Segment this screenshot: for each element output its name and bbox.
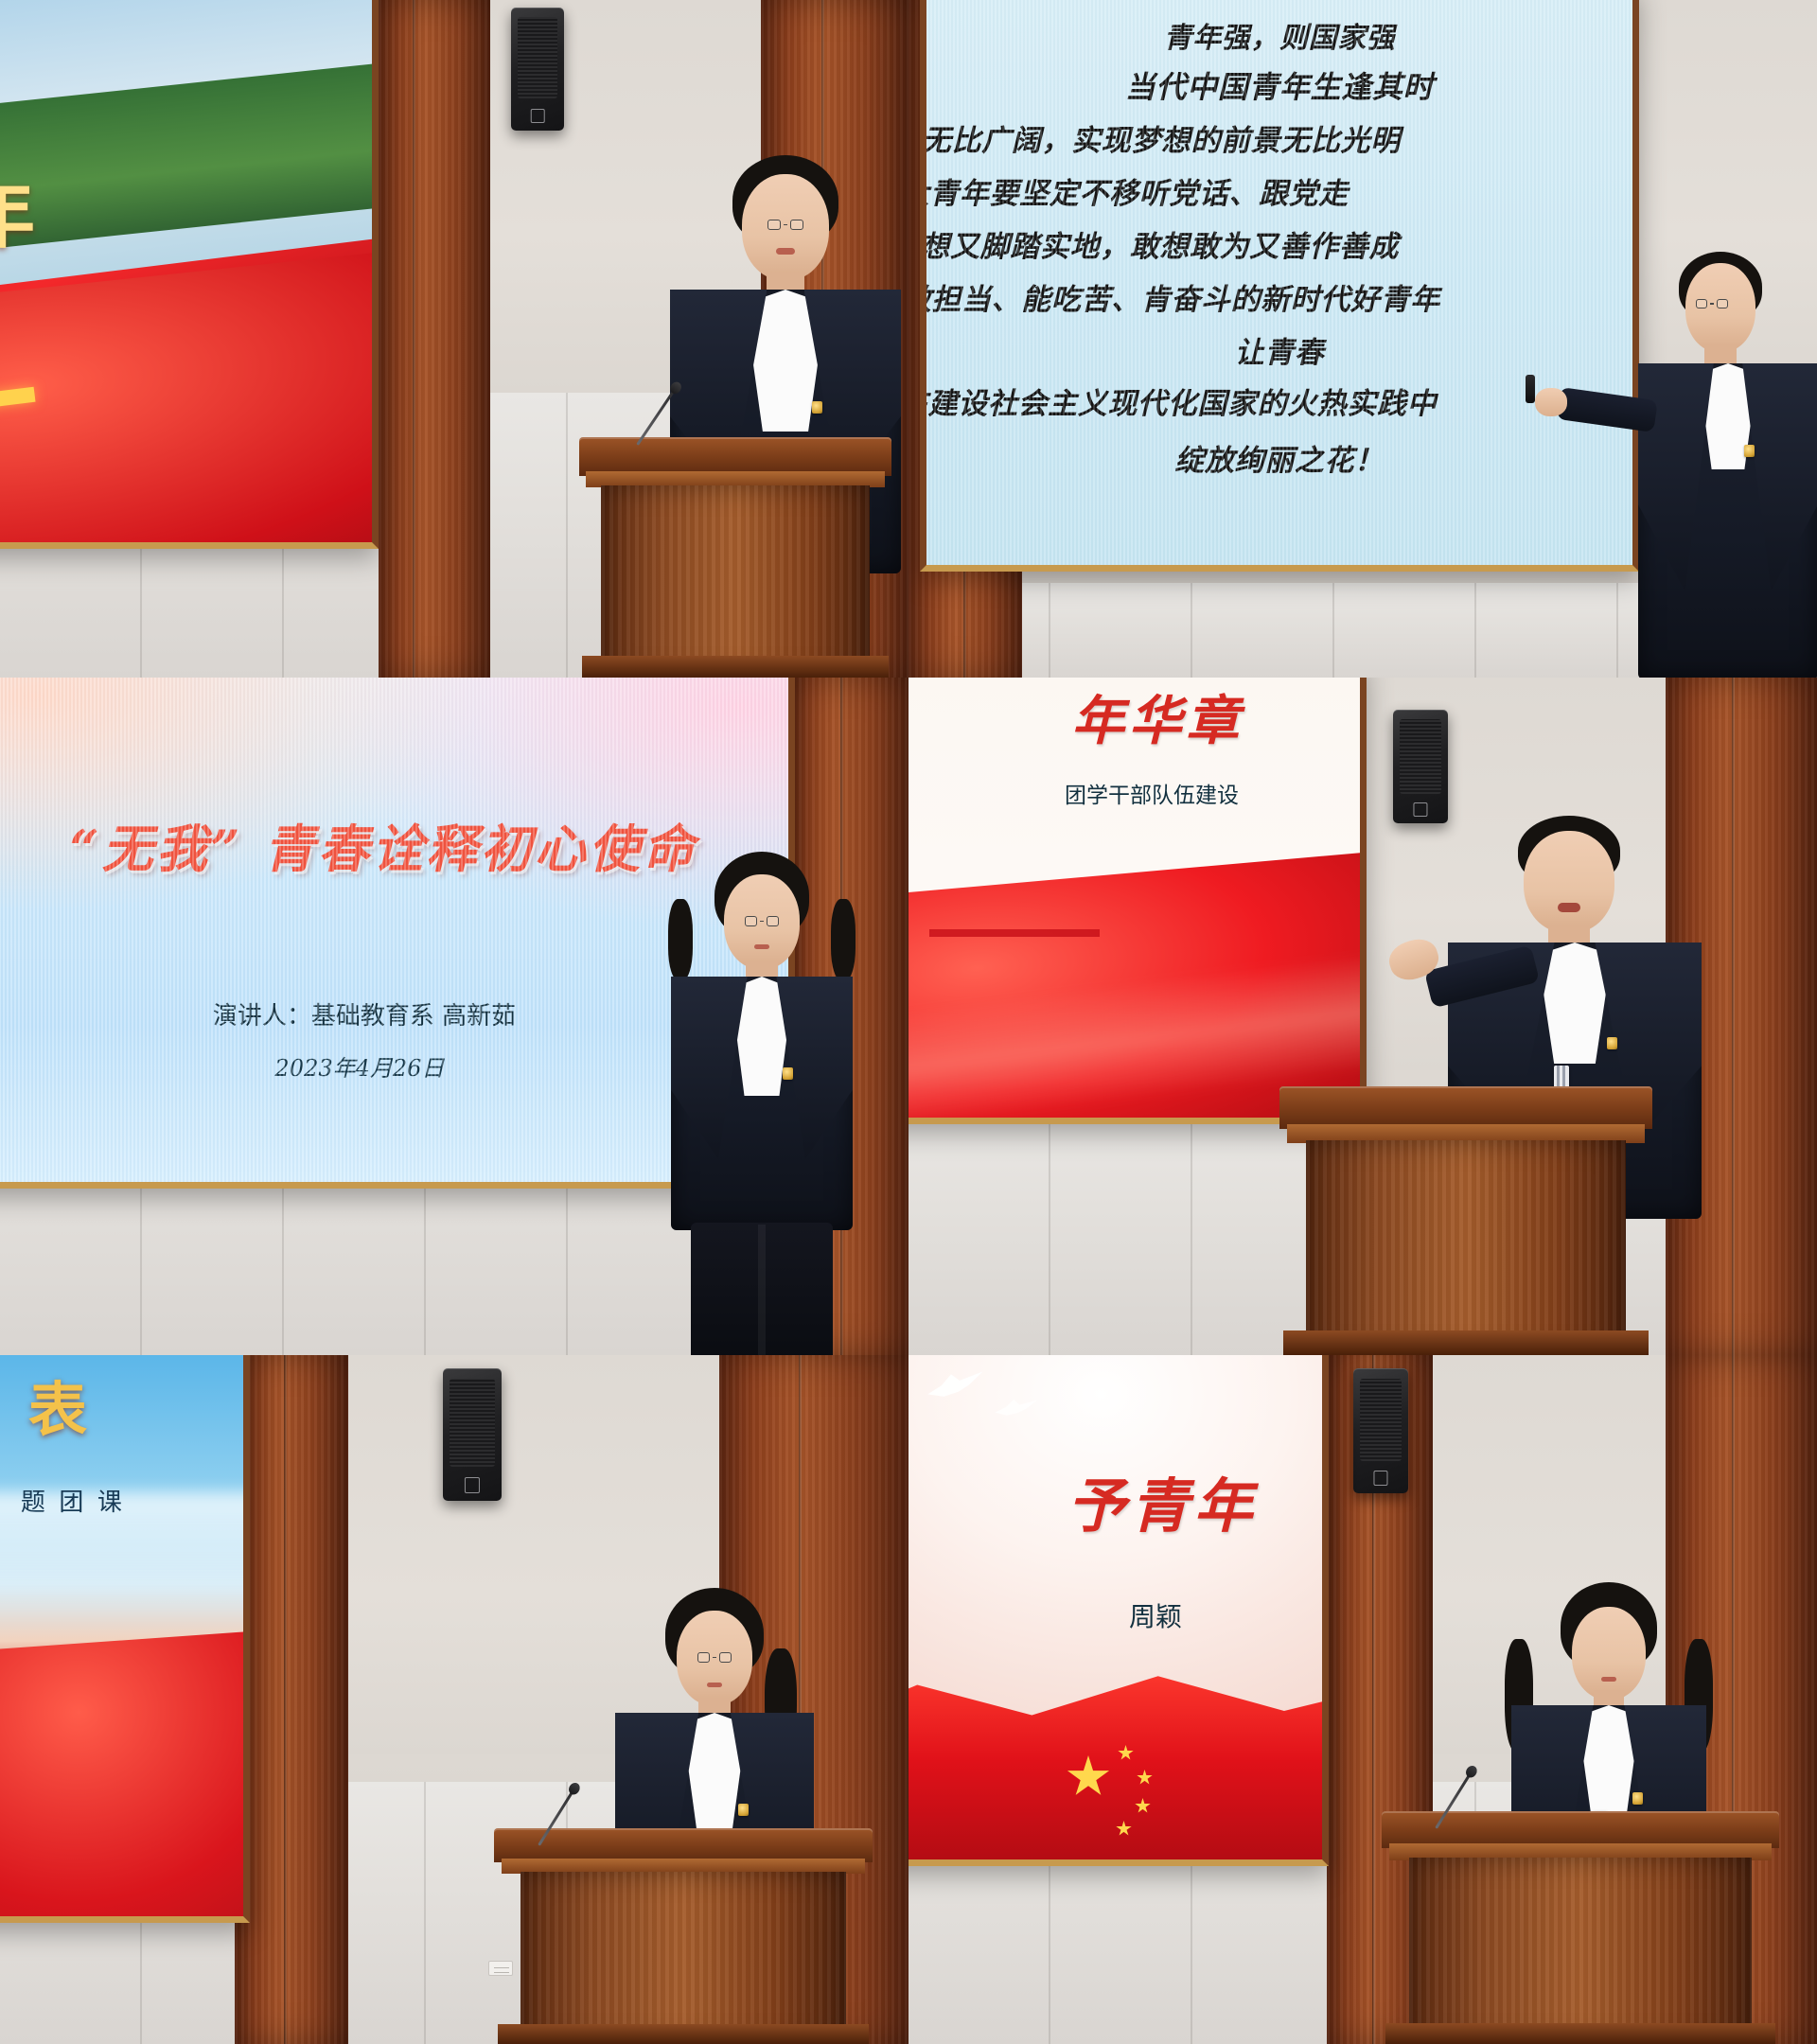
head xyxy=(1524,831,1614,933)
party-badge-icon xyxy=(1607,1037,1617,1049)
photo-panel-middle-left: “无我” 青春诠释初心使命 演讲人：基础教育系 高新茹 2023年4月26日 xyxy=(0,678,908,1355)
slide-line-6: 、敢担当、能吃苦、肯奋斗的新时代好青年 xyxy=(926,275,1632,318)
slide-line-1: 青年强，则国家强 xyxy=(926,14,1632,56)
screen-content: 年华章 团学干部队伍建设 xyxy=(908,678,1360,1118)
party-badge-icon xyxy=(812,401,822,414)
glasses-icon xyxy=(697,1652,732,1663)
lectern xyxy=(1382,1811,1779,2044)
projection-screen: 青年强，则国家强 当代中国青年生逢其时 的舞台无比广阔，实现梦想的前景无比光明 … xyxy=(920,0,1639,572)
glasses-icon xyxy=(745,916,779,926)
suit-jacket xyxy=(1638,363,1817,678)
slide-line-3: 的舞台无比广阔，实现梦想的前景无比光明 xyxy=(926,116,1632,159)
projection-screen: 予青年 周颖 xyxy=(908,1355,1329,1866)
slide-title: 年华章 xyxy=(955,678,1360,755)
head xyxy=(677,1611,752,1705)
slide-subtitle: 团学干部队伍建设 xyxy=(944,777,1360,809)
ceiling-speaker-icon xyxy=(1353,1368,1408,1493)
slide-title: 予青年 xyxy=(1002,1458,1322,1543)
slide-line-9: 绽放绚丽之花！ xyxy=(926,436,1632,479)
head xyxy=(1572,1607,1646,1700)
projection-screen: 表 题 团 课 xyxy=(0,1355,250,1923)
ceiling-speaker-icon xyxy=(443,1368,502,1501)
hair-side xyxy=(831,899,856,980)
lectern xyxy=(494,1828,873,2044)
screen-content: 青年强，则国家强 当代中国青年生逢其时 的舞台无比广阔，实现梦想的前景无比光明 … xyxy=(926,0,1632,565)
lapel-left xyxy=(671,977,748,1159)
wooden-pillar xyxy=(379,0,490,678)
presentation-clicker-icon xyxy=(1526,375,1535,403)
photo-panel-top-left: 神， 青年 xyxy=(0,0,908,678)
glasses-icon xyxy=(767,220,803,230)
photo-collage: 神， 青年 xyxy=(0,0,1817,2044)
lapel-left xyxy=(1638,363,1714,590)
party-badge-icon xyxy=(738,1804,749,1816)
speaker-person xyxy=(1637,254,1817,678)
slide-line-5: 既他想又脚踏实地，敢想敢为又善作善成 xyxy=(926,222,1632,265)
photo-panel-middle-right: 年华章 团学干部队伍建设 xyxy=(908,678,1817,1355)
speaker-person xyxy=(662,857,861,1355)
ceiling-speaker-icon xyxy=(1393,710,1448,823)
projection-screen: 年华章 团学干部队伍建设 xyxy=(908,678,1367,1124)
wooden-pillar xyxy=(235,1355,348,2044)
dove-icon xyxy=(994,1396,1039,1421)
glasses-icon xyxy=(1696,299,1728,308)
hand xyxy=(1535,388,1567,416)
lectern xyxy=(1279,1086,1652,1355)
head xyxy=(742,174,829,280)
photo-panel-bottom-right: 予青年 周颖 xyxy=(908,1355,1817,2044)
dove-icon xyxy=(925,1366,988,1405)
lectern xyxy=(579,437,891,678)
slide-line-4: 广大青年要坚定不移听党话、跟党走 xyxy=(926,169,1632,212)
lapel-right xyxy=(1742,363,1817,590)
slide-line-7: 让青春 xyxy=(926,328,1632,371)
slide-line-2: 当代中国青年生逢其时 xyxy=(926,63,1632,107)
slide-presenter: 周颖 xyxy=(989,1596,1322,1634)
photo-panel-top-right: 青年强，则国家强 当代中国青年生逢其时 的舞台无比广阔，实现梦想的前景无比光明 … xyxy=(908,0,1817,678)
photo-panel-bottom-left: 表 题 团 课 xyxy=(0,1355,908,2044)
screen-content: 予青年 周颖 xyxy=(908,1355,1322,1859)
slide-title: 表 xyxy=(0,1362,243,1447)
screen-line-2: 青年 xyxy=(0,177,35,255)
party-badge-icon xyxy=(1632,1792,1643,1805)
head xyxy=(724,874,800,969)
projection-screen: 神， 青年 xyxy=(0,0,379,549)
screen-line-1: 神， xyxy=(0,44,3,122)
suit-jacket xyxy=(671,977,853,1230)
screen-content: 神， 青年 xyxy=(0,0,372,542)
party-badge-icon xyxy=(1744,445,1755,457)
head xyxy=(1685,263,1755,352)
flag-illustration xyxy=(908,1664,1322,1859)
ceiling-speaker-icon xyxy=(511,8,564,131)
screen-content: 表 题 团 课 xyxy=(0,1355,243,1916)
party-badge-icon xyxy=(783,1067,793,1080)
hair-side xyxy=(668,899,693,980)
slide-subtitle: 题 团 课 xyxy=(0,1483,243,1518)
